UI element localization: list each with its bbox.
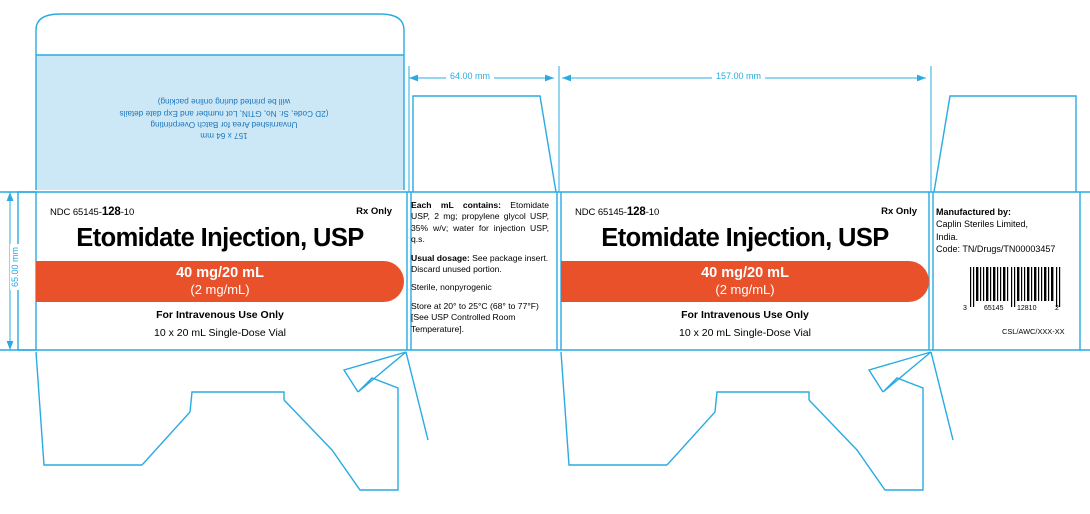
product-name: Etomidate Injection, USP	[36, 224, 404, 253]
ndc-number: NDC 65145-128-10	[575, 206, 659, 218]
manufacturer-name: Caplin Steriles Limited,	[936, 218, 1076, 230]
ndc-prefix: NDC 65145-	[575, 207, 627, 218]
ndc-package-code: -10	[121, 207, 134, 218]
drug-facts-side-panel: Each mL contains: Etomidate USP, 2 mg; p…	[411, 200, 549, 348]
overprint-line2: (2D Code, Sr. No, GTIN, Lot number and E…	[44, 107, 404, 118]
bottom-flap-b-fold	[869, 352, 931, 392]
dimension-label-main-width: 157.00 mm	[712, 71, 765, 81]
dim-arrow-64-right	[545, 75, 554, 82]
bottom-flap-b-left	[561, 352, 667, 465]
overprint-size: 157 x 64 mm	[44, 130, 404, 141]
strength-value: 40 mg/20 mL	[561, 265, 929, 281]
dim-arrow-65-top	[7, 192, 14, 201]
rx-only-label: Rx Only	[356, 206, 392, 217]
ndc-product-code: 128	[102, 206, 121, 218]
ndc-row: NDC 65145-128-10 Rx Only	[50, 206, 392, 220]
license-code: Code: TN/Drugs/TN00003457	[936, 243, 1076, 255]
storage-statement: Store at 20° to 25°C (68° to 77°F) [See …	[411, 301, 549, 335]
concentration-value: (2 mg/mL)	[561, 282, 929, 297]
main-display-panel-right: NDC 65145-128-10 Rx Only Etomidate Injec…	[561, 192, 929, 350]
overprint-line3: will be printed during online packing)	[44, 96, 404, 107]
dim-arrow-65-bottom	[7, 341, 14, 350]
concentration-value: (2 mg/mL)	[36, 282, 404, 297]
bottom-flap-a-notch	[142, 392, 284, 465]
manufactured-by-label: Manufactured by:	[936, 206, 1076, 218]
carton-dieline-artwork: 157 x 64 mm Unvarnished Area for Batch O…	[0, 0, 1090, 514]
strength-banner: 40 mg/20 mL (2 mg/mL)	[561, 261, 929, 302]
barcode-digit-2: 12810	[1017, 305, 1036, 312]
dosage-statement: Usual dosage: See package insert. Discar…	[411, 253, 549, 276]
ingredients-lead: Each mL contains:	[411, 200, 501, 210]
strength-banner: 40 mg/20 mL (2 mg/mL)	[36, 261, 404, 302]
route-of-administration: For Intravenous Use Only	[36, 309, 404, 321]
rx-only-label: Rx Only	[881, 206, 917, 217]
side-flap-top-right	[934, 96, 1076, 192]
dim-arrow-157-right	[917, 75, 926, 82]
ingredients-statement: Each mL contains: Etomidate USP, 2 mg; p…	[411, 200, 549, 246]
barcode-bars	[968, 267, 1064, 307]
dosage-lead: Usual dosage:	[411, 253, 470, 263]
ndc-row: NDC 65145-128-10 Rx Only	[575, 206, 917, 220]
glue-flap-left	[18, 192, 36, 350]
artwork-code: CSL/AWC/XXX-XX	[1002, 327, 1065, 336]
strength-value: 40 mg/20 mL	[36, 265, 404, 281]
main-display-panel-left: NDC 65145-128-10 Rx Only Etomidate Injec…	[36, 192, 404, 350]
upc-barcode: 3 65145 12810 2	[968, 267, 1064, 317]
sterility-statement: Sterile, nonpyrogenic	[411, 282, 549, 293]
dim-arrow-157-left	[562, 75, 571, 82]
bottom-flap-a-left	[36, 352, 142, 465]
ndc-package-code: -10	[646, 207, 659, 218]
side-flap-top-center	[413, 96, 556, 192]
barcode-digit-0: 3	[963, 305, 967, 312]
route-of-administration: For Intravenous Use Only	[561, 309, 929, 321]
manufacturer-side-panel: Manufactured by: Caplin Steriles Limited…	[936, 206, 1076, 256]
dimension-label-side-width: 64.00 mm	[446, 71, 494, 81]
tuck-flap-rounded-top	[36, 14, 404, 55]
package-count: 10 x 20 mL Single-Dose Vial	[561, 327, 929, 339]
ndc-prefix: NDC 65145-	[50, 207, 102, 218]
product-name: Etomidate Injection, USP	[561, 224, 929, 253]
dimension-label-panel-height: 65.00 mm	[10, 244, 20, 290]
ndc-number: NDC 65145-128-10	[50, 206, 134, 218]
ndc-product-code: 128	[627, 206, 646, 218]
barcode-human-readable: 3 65145 12810 2	[962, 305, 1070, 317]
barcode-digit-3: 2	[1055, 305, 1059, 312]
barcode-digit-1: 65145	[984, 305, 1003, 312]
dim-arrow-64-left	[409, 75, 418, 82]
bottom-flap-b-notch	[667, 392, 809, 465]
manufacturer-country: India.	[936, 231, 1076, 243]
bottom-flap-a-edge	[406, 352, 428, 440]
package-count: 10 x 20 mL Single-Dose Vial	[36, 327, 404, 339]
overprint-line1: Unvarnished Area for Batch Overprinting	[44, 118, 404, 129]
bottom-flap-b-edge	[931, 352, 953, 440]
bottom-flap-a-fold	[344, 352, 406, 392]
overprint-area-note: 157 x 64 mm Unvarnished Area for Batch O…	[44, 96, 404, 141]
